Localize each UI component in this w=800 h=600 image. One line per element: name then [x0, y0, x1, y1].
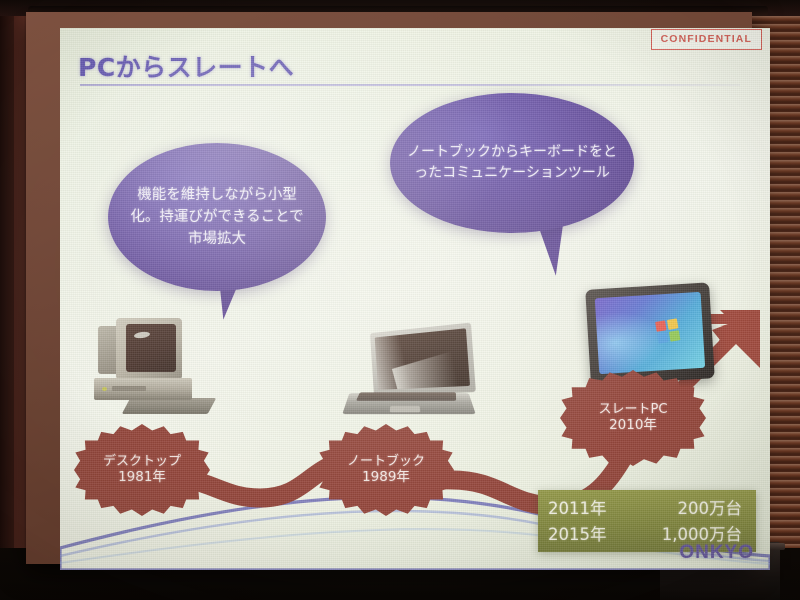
laptop-keyboard — [356, 392, 456, 400]
floppy-drive-slot — [112, 386, 146, 391]
windows-logo-icon — [655, 318, 683, 346]
onkyo-logo: ONKYO — [679, 542, 754, 564]
milestone-slate-pc: スレートPC 2010年 — [560, 370, 706, 466]
laptop-lid — [370, 323, 476, 396]
milestone-notebook-name: ノートブック — [347, 454, 425, 469]
confidential-badge: CONFIDENTIAL — [651, 29, 762, 50]
milestone-notebook-year: 1989年 — [362, 470, 410, 486]
laptop-touchpad — [390, 406, 421, 412]
tablet-screen-glow — [595, 309, 668, 374]
speech-bubble-right: ノートブックからキーボードをとったコミュニケーションツール — [390, 93, 634, 233]
page-title: PCからスレートへ — [78, 48, 294, 84]
forecast-row: 2011年 200万台 — [548, 496, 746, 522]
speech-bubble-left: 機能を維持しながら小型化。持運びができることで市場拡大 — [108, 143, 326, 291]
presentation-slide: CONFIDENTIAL PCからスレートへ — [60, 28, 770, 570]
power-led-icon — [102, 387, 107, 391]
crt-screen — [126, 324, 176, 372]
projection-screen: CONFIDENTIAL PCからスレートへ — [60, 28, 770, 570]
title-divider — [80, 84, 740, 86]
speech-bubble-right-text: ノートブックからキーボードをとったコミュニケーションツール — [390, 142, 634, 185]
speech-bubble-left-text: 機能を維持しながら小型化。持運びができることで市場拡大 — [108, 184, 326, 250]
milestone-desktop-name: デスクトップ — [103, 454, 181, 469]
forecast-value-1: 200万台 — [629, 496, 746, 522]
desktop-pc-image — [82, 308, 212, 418]
milestone-slate-pc-name: スレートPC — [599, 402, 668, 417]
milestone-desktop-year: 1981年 — [118, 470, 166, 486]
left-wall-shadow — [0, 0, 14, 600]
tablet-screen — [595, 292, 705, 374]
tablet-body — [585, 282, 715, 385]
forecast-year-1: 2011年 — [548, 496, 629, 522]
conference-room-photo: CONFIDENTIAL PCからスレートへ — [0, 0, 800, 600]
tablet-image — [588, 286, 712, 382]
laptop-image — [342, 328, 478, 428]
forecast-year-2: 2015年 — [548, 522, 629, 548]
desktop-keyboard — [122, 398, 217, 414]
projection-screen-frame: CONFIDENTIAL PCからスレートへ — [26, 12, 752, 564]
laptop-screen — [375, 328, 470, 390]
milestone-slate-pc-year: 2010年 — [609, 418, 657, 434]
